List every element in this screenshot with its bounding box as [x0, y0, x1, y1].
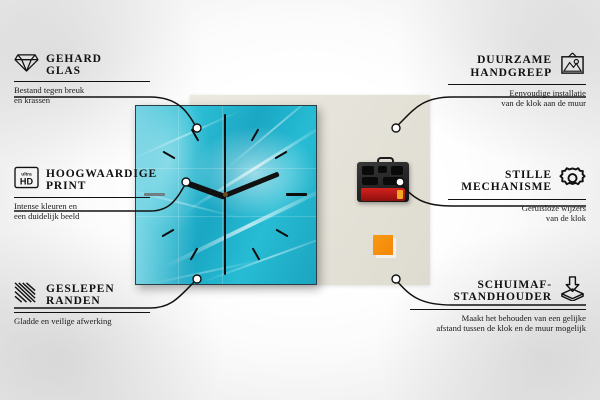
feature-desc-line2: van de klok aan de muur: [448, 98, 586, 108]
clock-tick-4: [275, 229, 288, 238]
movement-detail: [362, 166, 374, 175]
feature-title-line2: RANDEN: [46, 295, 115, 308]
feature-divider: [14, 312, 150, 313]
svg-text:HD: HD: [20, 177, 34, 187]
movement-detail: [383, 177, 403, 185]
clock-second-hand: [224, 120, 226, 262]
feature-desc-line1: Eenvoudige installatie: [448, 88, 586, 98]
diagonal-lines-icon: [14, 281, 39, 309]
feature-desc-line2: en krassen: [14, 95, 150, 105]
clock-grid-line: [136, 216, 316, 217]
feature-title-line2: PRINT: [46, 180, 157, 193]
feature-gehard-glas: GEHARD GLAS Bestand tegen breuk en krass…: [14, 52, 150, 106]
feature-desc-line1: Bestand tegen breuk: [14, 85, 150, 95]
clock-tick-3: [286, 193, 307, 196]
movement-detail: [378, 166, 387, 173]
feature-desc-line2: afstand tussen de klok en de muur mogeli…: [410, 323, 586, 333]
feature-desc-line2: van de klok: [448, 213, 586, 223]
clock-minute-hand: [224, 171, 280, 197]
feature-desc-line1: Maakt het behouden van een gelijke: [410, 313, 586, 323]
clock-movement: [357, 157, 409, 202]
clock-center-pin: [223, 192, 228, 197]
feature-title-line1: HOOGWAARDIGE: [46, 168, 157, 181]
diamond-icon: [14, 52, 39, 78]
feature-hoogwaardige-print: ultra HD HOOGWAARDIGE PRINT Intense kleu…: [14, 166, 150, 222]
feature-divider: [14, 197, 150, 198]
feature-divider: [410, 309, 586, 310]
feature-desc-line2: een duidelijk beeld: [14, 211, 150, 221]
clock-tick-5: [252, 247, 261, 260]
foam-spacer-pad: [373, 235, 393, 255]
feature-geslepen-randen: GESLEPEN RANDEN Gladde en veilige afwerk…: [14, 281, 150, 326]
feature-divider: [448, 84, 586, 85]
feature-title-line2: HANDGREEP: [470, 67, 552, 80]
feature-title-line2: STANDHOUDER: [453, 291, 552, 304]
movement-detail: [391, 166, 403, 175]
feature-desc-line1: Intense kleuren en: [14, 201, 150, 211]
press-down-icon: [559, 276, 586, 306]
movement-body: [357, 162, 409, 202]
battery-positive-cap: [397, 190, 403, 199]
feature-stille-mechanisme: STILLE MECHANISME Geruisloze wijzers van…: [448, 166, 586, 224]
ultra-hd-icon: ultra HD: [14, 166, 39, 194]
feature-desc-line1: Geruisloze wijzers: [448, 203, 586, 213]
glass-wall-clock: [135, 105, 317, 285]
feature-title-line2: GLAS: [46, 65, 102, 78]
gear-icon: [559, 166, 586, 196]
movement-detail: [362, 177, 378, 185]
picture-frame-icon: [559, 52, 586, 81]
feature-title-line1: GESLEPEN: [46, 283, 115, 296]
feature-divider: [14, 81, 150, 82]
infographic-canvas: GEHARD GLAS Bestand tegen breuk en krass…: [0, 0, 600, 400]
feature-title-line2: MECHANISME: [461, 181, 552, 194]
product-photo: [135, 95, 430, 285]
feature-desc-line1: Gladde en veilige afwerking: [14, 316, 150, 326]
feature-divider: [448, 199, 586, 200]
feature-schuimaf-standhouder: SCHUIMAF- STANDHOUDER Maakt het behouden…: [410, 276, 586, 334]
feature-title-line1: SCHUIMAF-: [453, 279, 552, 292]
aa-battery: [361, 188, 405, 201]
feature-title-line1: STILLE: [461, 169, 552, 182]
feature-duurzame-handgreep: DUURZAME HANDGREEP Eenvoudige installati…: [448, 52, 586, 109]
feature-title-line1: DUURZAME: [470, 54, 552, 67]
feature-title-line1: GEHARD: [46, 53, 102, 66]
